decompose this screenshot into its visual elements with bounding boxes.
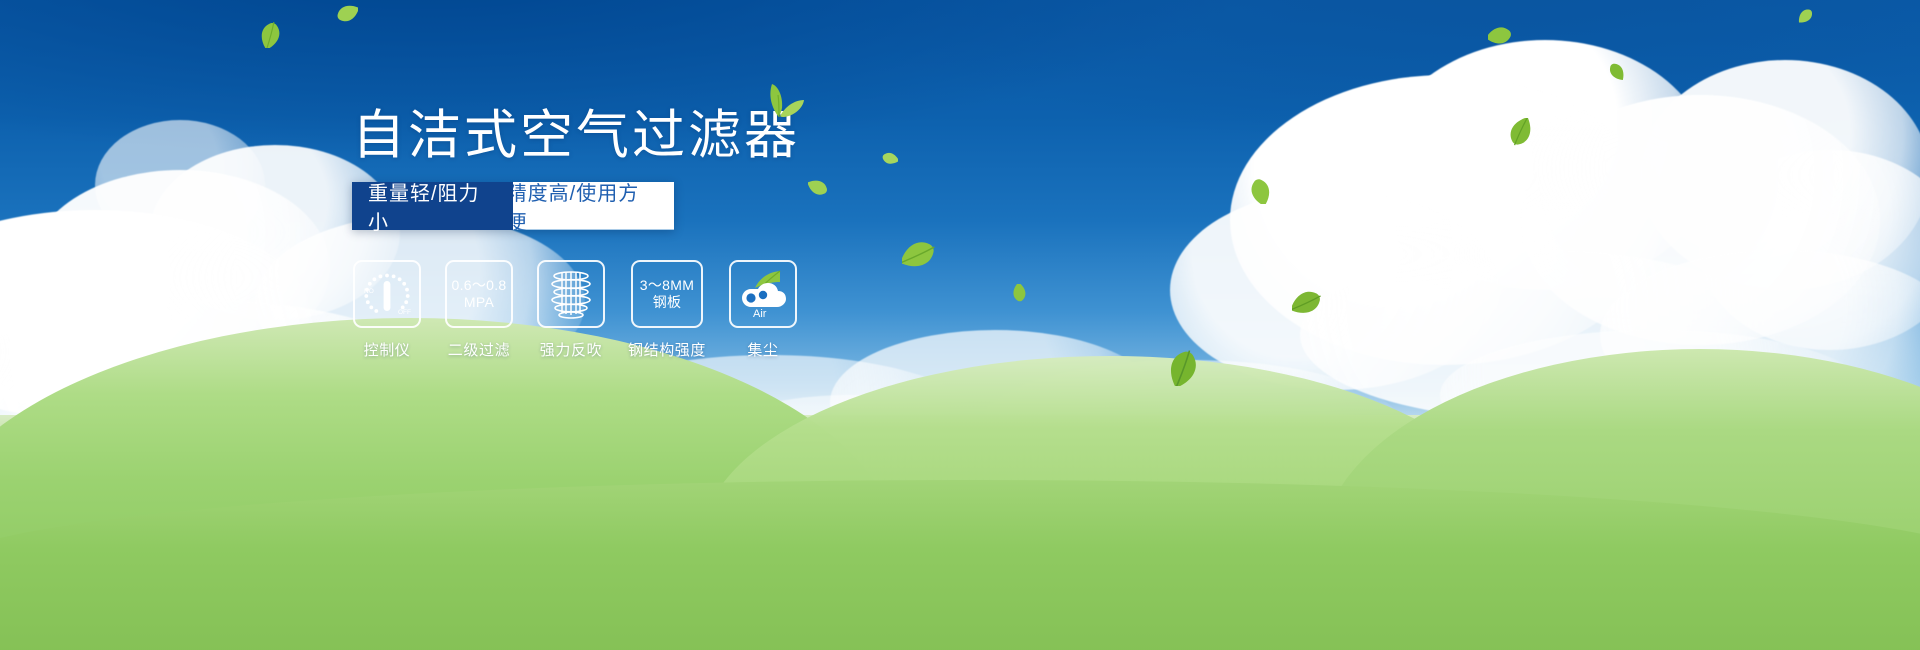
air-cloud-icon: Air: [734, 268, 792, 320]
feature-icon-box: [537, 260, 605, 328]
feature-item: 0.6～0.8 MPA 二级过滤: [444, 260, 514, 360]
steel-plate-text-icon: 3～8MM 钢板: [640, 277, 694, 310]
grass-foreground: [0, 480, 1920, 650]
svg-text:NO: NO: [364, 288, 374, 295]
air-label: Air: [753, 308, 767, 320]
feature-label: 二级过滤: [448, 339, 510, 360]
pressure-text-icon: 0.6～0.8 MPA: [451, 277, 506, 310]
feature-icon-box: 0.6～0.8 MPA: [445, 260, 513, 328]
tagline-badges: 重量轻/阻力小 精度高/使用方便: [352, 182, 674, 230]
feature-item: 3～8MM 钢板 钢结构强度: [628, 260, 706, 360]
product-banner: 自洁式空气过滤器 重量轻/阻力小 精度高/使用方便: [0, 0, 1920, 650]
page-title: 自洁式空气过滤器: [352, 108, 800, 164]
feature-item: NO OFF 控制仪: [352, 260, 422, 360]
feature-label: 强力反吹: [540, 339, 602, 360]
tagline-primary: 重量轻/阻力小: [352, 182, 513, 230]
feature-item: 强力反吹: [536, 260, 606, 360]
tagline-secondary: 精度高/使用方便: [497, 182, 674, 230]
feature-icon-box: Air: [729, 260, 797, 328]
feature-list: NO OFF 控制仪 0.6～0.8 MPA 二级过滤: [352, 260, 912, 360]
feature-icon-box: 3～8MM 钢板: [631, 260, 703, 328]
svg-text:OFF: OFF: [398, 309, 411, 316]
dial-gauge-icon: NO OFF: [359, 268, 415, 320]
feature-icon-box: NO OFF: [353, 260, 421, 328]
banner-content: 自洁式空气过滤器 重量轻/阻力小 精度高/使用方便: [352, 108, 912, 360]
feature-label: 集尘: [747, 339, 778, 360]
feature-item: Air 集尘: [728, 260, 798, 360]
title-row: 自洁式空气过滤器: [352, 108, 800, 164]
filter-cartridge-icon: [547, 269, 595, 319]
title-leaf-icon: [752, 74, 806, 118]
feature-label: 钢结构强度: [628, 339, 706, 360]
feature-label: 控制仪: [364, 339, 411, 360]
